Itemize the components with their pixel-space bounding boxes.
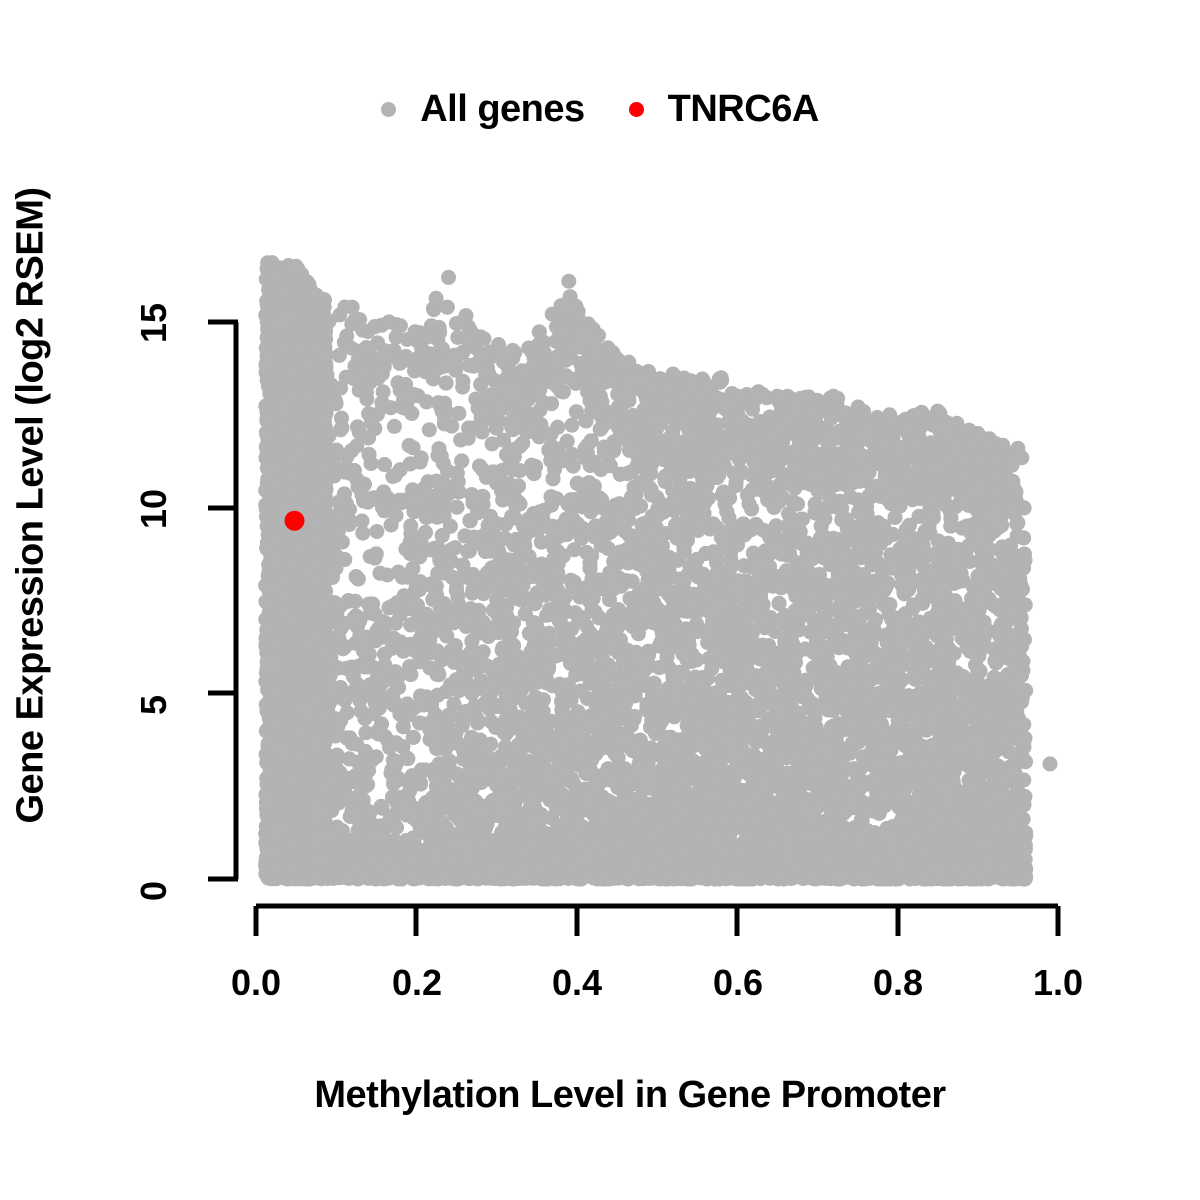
highlight-point-tnrc6a (285, 511, 305, 531)
scatter-plot-figure: All genes TNRC6A Gene Expression Level (… (0, 0, 1200, 1200)
y-axis-line-group (208, 322, 238, 879)
x-axis-line-group (256, 906, 1058, 936)
plot-area (0, 0, 1200, 1200)
highlight-point-layer (285, 511, 305, 531)
data-points-layer (258, 255, 1057, 886)
